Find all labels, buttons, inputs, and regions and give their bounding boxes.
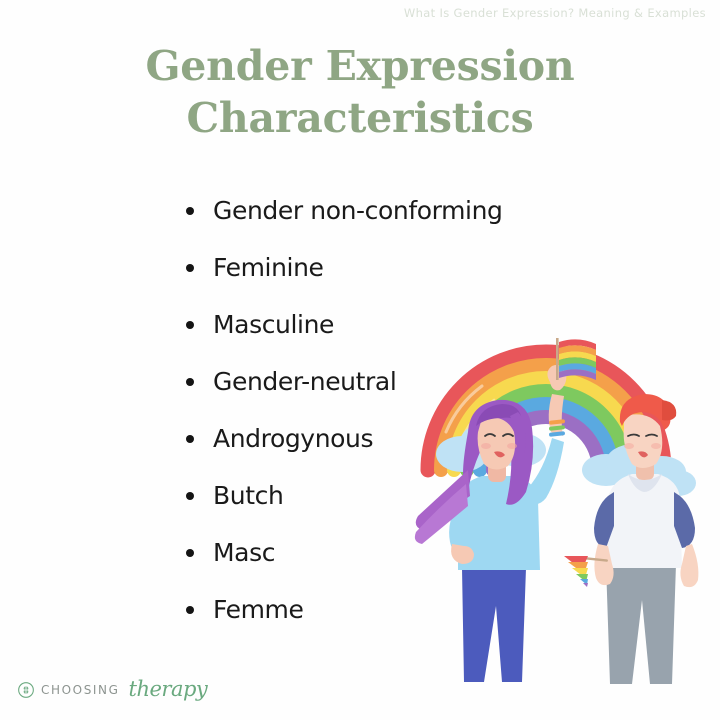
right-person-pants — [606, 564, 676, 684]
list-item-label: Butch — [213, 481, 283, 511]
logo-word-therapy: therapy — [129, 677, 208, 701]
list-item: Androgynous — [183, 424, 603, 481]
list-item: Gender-neutral — [183, 367, 603, 424]
list-item: Femme — [183, 595, 603, 652]
bullet-dot-icon — [186, 378, 194, 386]
list-item: Masc — [183, 538, 603, 595]
page-title-line-2: Characteristics — [0, 92, 720, 144]
list-item-label: Feminine — [213, 253, 324, 283]
bullet-dot-icon — [186, 492, 194, 500]
bullet-dot-icon — [186, 264, 194, 272]
brand-logo[interactable]: CHOOSING therapy — [18, 678, 207, 702]
list-item-label: Masculine — [213, 310, 334, 340]
characteristics-list: Gender non-conforming Feminine Masculine… — [183, 196, 603, 652]
list-item-label: Femme — [213, 595, 303, 625]
list-item-label: Masc — [213, 538, 275, 568]
bullet-dot-icon — [186, 549, 194, 557]
page-title-line-1: Gender Expression — [0, 40, 720, 92]
bullet-dot-icon — [186, 207, 194, 215]
infographic-canvas: What Is Gender Expression? Meaning & Exa… — [0, 0, 720, 720]
list-item-label: Gender non-conforming — [213, 196, 503, 226]
list-item-label: Androgynous — [213, 424, 373, 454]
list-item: Feminine — [183, 253, 603, 310]
bullet-dot-icon — [186, 606, 194, 614]
list-item: Masculine — [183, 310, 603, 367]
cap-brim — [662, 400, 676, 421]
logo-word-choosing: CHOOSING — [41, 683, 120, 697]
page-title: Gender Expression Characteristics — [0, 40, 720, 145]
list-item: Butch — [183, 481, 603, 538]
bullet-dot-icon — [186, 321, 194, 329]
bullet-dot-icon — [186, 435, 194, 443]
list-item: Gender non-conforming — [183, 196, 603, 253]
page-header-label: What Is Gender Expression? Meaning & Exa… — [404, 6, 706, 20]
list-item-label: Gender-neutral — [213, 367, 396, 397]
clover-icon — [18, 682, 34, 698]
